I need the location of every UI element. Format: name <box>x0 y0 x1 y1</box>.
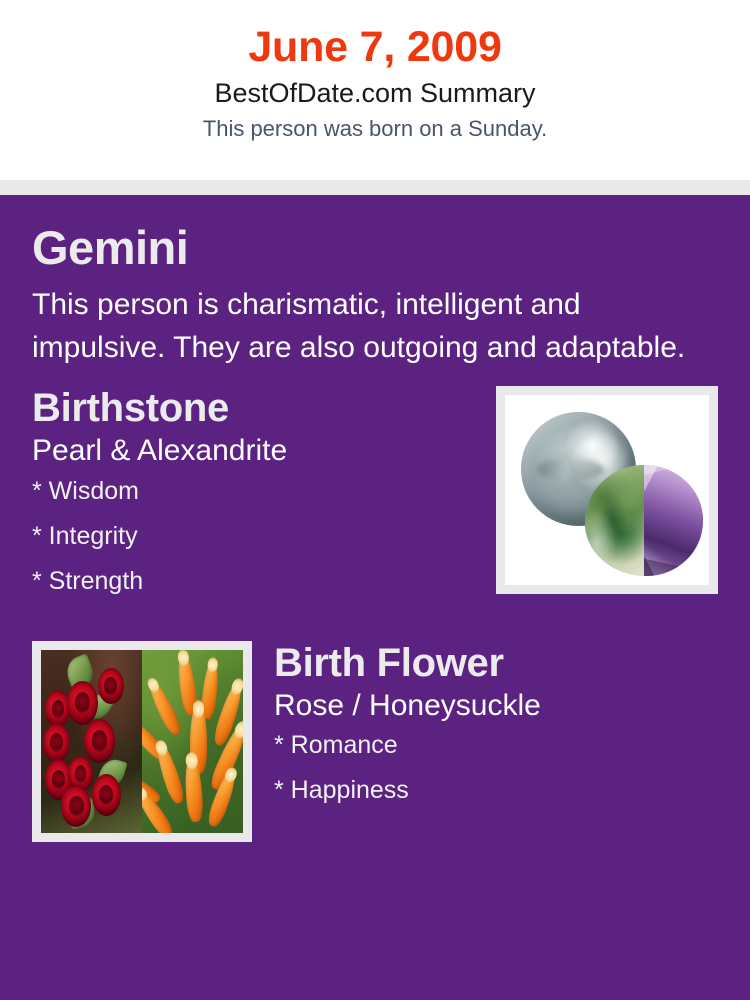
alexandrite-faceted-half <box>644 465 703 575</box>
list-item: * Happiness <box>274 778 718 803</box>
birthstone-text: Birthstone Pearl & Alexandrite * Wisdom … <box>32 386 496 613</box>
card-header: June 7, 2009 BestOfDate.com Summary This… <box>0 0 750 180</box>
birth-flower-text: Birth Flower Rose / Honeysuckle * Romanc… <box>252 641 718 823</box>
header-divider <box>0 180 750 195</box>
zodiac-section: Gemini This person is charismatic, intel… <box>0 195 750 370</box>
alexandrite-rough-half <box>585 465 644 575</box>
zodiac-sign-name: Gemini <box>32 223 718 272</box>
birthstone-section: Birthstone Pearl & Alexandrite * Wisdom … <box>0 386 750 613</box>
zodiac-description: This person is charismatic, intelligent … <box>32 284 712 370</box>
list-item: * Strength <box>32 569 496 594</box>
birth-flower-section: Birth Flower Rose / Honeysuckle * Romanc… <box>0 641 750 842</box>
site-name-subtitle: BestOfDate.com Summary <box>0 78 750 109</box>
birthstone-image-frame <box>496 386 718 594</box>
born-day-text: This person was born on a Sunday. <box>0 116 750 141</box>
alexandrite-gem-shape <box>585 465 703 575</box>
birthstone-title: Birthstone <box>32 386 496 430</box>
date-summary-card: June 7, 2009 BestOfDate.com Summary This… <box>0 0 750 1000</box>
rose-honeysuckle-icon <box>41 650 243 833</box>
roses-half <box>41 650 142 833</box>
birth-flower-title: Birth Flower <box>274 641 718 685</box>
pearl-alexandrite-icon <box>505 395 709 585</box>
list-item: * Romance <box>274 733 718 758</box>
card-body: Gemini This person is charismatic, intel… <box>0 195 750 1000</box>
page-title: June 7, 2009 <box>0 24 750 70</box>
birth-flower-trait-list: * Romance * Happiness <box>274 733 718 803</box>
honeysuckle-half <box>142 650 243 833</box>
flower-split-photo <box>41 650 243 833</box>
birthstone-names: Pearl & Alexandrite <box>32 433 496 468</box>
birthstone-trait-list: * Wisdom * Integrity * Strength <box>32 479 496 594</box>
birth-flower-image-frame <box>32 641 252 842</box>
birth-flower-names: Rose / Honeysuckle <box>274 688 718 723</box>
list-item: * Integrity <box>32 524 496 549</box>
list-item: * Wisdom <box>32 479 496 504</box>
